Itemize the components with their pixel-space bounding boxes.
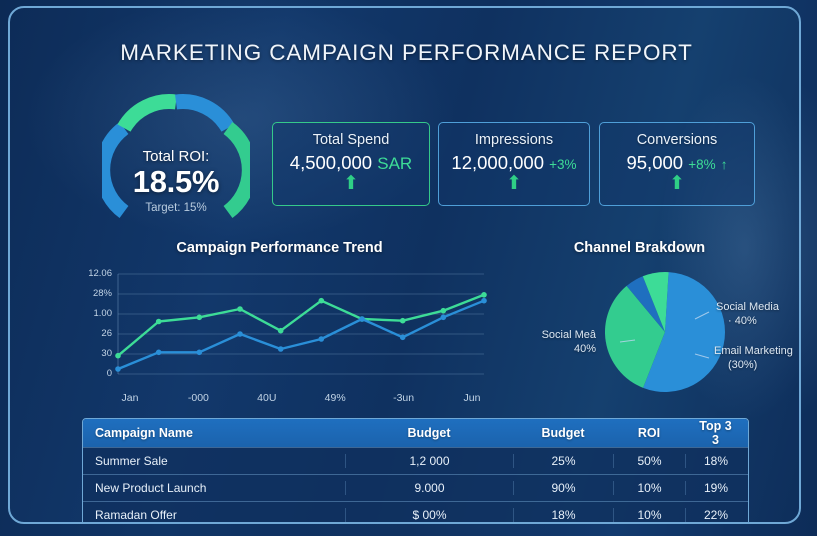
table-cell: 19% bbox=[685, 481, 746, 495]
y-axis-tick-label: 30 bbox=[72, 348, 112, 359]
y-axis-tick-label: 12.06 bbox=[72, 268, 112, 279]
table-cell: Ramadan Offer bbox=[83, 508, 345, 522]
data-point bbox=[115, 353, 121, 359]
kpi-card-impressions[interactable]: Impressions 12,000,000 +3% ⬆ bbox=[438, 122, 590, 206]
line-series-series-blue bbox=[118, 301, 484, 369]
table-cell: 50% bbox=[613, 454, 685, 468]
up-arrow-icon: ⬆ bbox=[439, 175, 589, 193]
column-header-budget-2: Budget bbox=[513, 426, 613, 440]
data-point bbox=[278, 328, 284, 334]
campaign-performance-trend-chart: Campaign Performance Trend 12.0628%1.002… bbox=[72, 240, 487, 402]
kpi-number: 4,500,000 bbox=[290, 152, 372, 173]
pie-label-social-media: Social Media · 40% bbox=[716, 300, 779, 328]
kpi-card-conversions[interactable]: Conversions 95,000 +8% ↑ ⬆ bbox=[599, 122, 755, 206]
chart-title: Campaign Performance Trend bbox=[72, 240, 487, 256]
table-cell: 22% bbox=[685, 508, 746, 522]
column-header-roi: ROI bbox=[613, 426, 685, 440]
table-row[interactable]: Ramadan Offer$ 00%18%10%22% bbox=[83, 501, 748, 524]
kpi-value: 4,500,000 SAR bbox=[273, 152, 429, 174]
table-body: Summer Sale1,2 00025%50%18%New Product L… bbox=[83, 447, 748, 524]
kpi-number: 12,000,000 bbox=[451, 152, 544, 173]
kpi-unit: SAR bbox=[377, 154, 412, 173]
total-roi-gauge: Total ROI: 18.5% Target: 15% bbox=[102, 90, 250, 220]
channel-breakdown-chart: Channel Brakdown Social Meâ 40% Social M… bbox=[502, 240, 801, 402]
x-axis-tick-label: Jan bbox=[106, 392, 154, 404]
gauge-value: 18.5% bbox=[102, 164, 250, 200]
table-header-row: Campaign Name Budget Budget ROI Top 3 3 bbox=[83, 419, 748, 447]
x-axis-tick-label: 40U bbox=[243, 392, 291, 404]
column-header-campaign-name: Campaign Name bbox=[83, 426, 345, 440]
line-chart-svg bbox=[72, 266, 487, 402]
data-point bbox=[441, 308, 447, 314]
data-point bbox=[400, 335, 406, 341]
campaign-table: Campaign Name Budget Budget ROI Top 3 3 … bbox=[82, 418, 749, 524]
kpi-value: 95,000 +8% ↑ bbox=[600, 152, 754, 174]
table-cell: 25% bbox=[513, 454, 613, 468]
chart-title: Channel Brakdown bbox=[502, 240, 777, 256]
y-axis-tick-label: 0 bbox=[72, 368, 112, 379]
x-axis-tick-label: Jun bbox=[448, 392, 496, 404]
y-axis-tick-label: 26 bbox=[72, 328, 112, 339]
kpi-delta-arrow-icon: ↑ bbox=[721, 157, 728, 172]
data-point bbox=[237, 331, 243, 337]
data-point bbox=[237, 306, 243, 312]
data-point bbox=[319, 298, 325, 304]
table-cell: $ 00% bbox=[345, 508, 513, 522]
kpi-label: Conversions bbox=[600, 132, 754, 148]
up-arrow-icon: ⬆ bbox=[600, 175, 754, 193]
y-axis-tick-label: 28% bbox=[72, 288, 112, 299]
kpi-delta: +8% bbox=[688, 157, 715, 172]
table-cell: Summer Sale bbox=[83, 454, 345, 468]
kpi-number: 95,000 bbox=[626, 152, 683, 173]
data-point bbox=[115, 366, 121, 372]
kpi-delta: +3% bbox=[549, 157, 576, 172]
y-axis-tick-label: 1.00 bbox=[72, 308, 112, 319]
column-header-budget-1: Budget bbox=[345, 426, 513, 440]
kpi-label: Impressions bbox=[439, 132, 589, 148]
data-point bbox=[197, 350, 203, 356]
table-cell: 10% bbox=[613, 481, 685, 495]
data-point bbox=[197, 315, 203, 321]
table-cell: 18% bbox=[685, 454, 746, 468]
table-row[interactable]: Summer Sale1,2 00025%50%18% bbox=[83, 447, 748, 474]
table-cell: 1,2 000 bbox=[345, 454, 513, 468]
gauge-target: Target: 15% bbox=[102, 202, 250, 214]
table-cell: 10% bbox=[613, 508, 685, 522]
data-point bbox=[359, 316, 365, 322]
data-point bbox=[156, 319, 162, 325]
x-axis-tick-label: -000 bbox=[174, 392, 222, 404]
table-cell: 90% bbox=[513, 481, 613, 495]
kpi-card-total-spend[interactable]: Total Spend 4,500,000 SAR ⬆ bbox=[272, 122, 430, 206]
table-cell: 18% bbox=[513, 508, 613, 522]
data-point bbox=[319, 336, 325, 342]
data-point bbox=[441, 315, 447, 321]
table-row[interactable]: New Product Launch9.00090%10%19% bbox=[83, 474, 748, 501]
data-point bbox=[481, 292, 487, 298]
table-cell: New Product Launch bbox=[83, 481, 345, 495]
data-point bbox=[278, 346, 284, 352]
table-cell: 9.000 bbox=[345, 481, 513, 495]
dashboard-root: MARKETING CAMPAIGN PERFORMANCE REPORT To… bbox=[0, 0, 817, 536]
page-title: MARKETING CAMPAIGN PERFORMANCE REPORT bbox=[10, 40, 801, 66]
data-point bbox=[481, 298, 487, 304]
column-header-top3: Top 3 3 bbox=[685, 419, 746, 447]
data-point bbox=[400, 318, 406, 324]
pie-label-email-marketing: Email Marketing (30%) bbox=[714, 344, 793, 372]
x-axis-tick-label: -3un bbox=[380, 392, 428, 404]
x-axis-tick-label: 49% bbox=[311, 392, 359, 404]
gauge-label: Total ROI: bbox=[102, 148, 250, 165]
up-arrow-icon: ⬆ bbox=[273, 175, 429, 193]
pie-label-left: Social Meâ 40% bbox=[504, 328, 596, 356]
kpi-label: Total Spend bbox=[273, 132, 429, 148]
data-point bbox=[156, 350, 162, 356]
kpi-value: 12,000,000 +3% bbox=[439, 152, 589, 174]
report-frame: MARKETING CAMPAIGN PERFORMANCE REPORT To… bbox=[8, 6, 801, 524]
